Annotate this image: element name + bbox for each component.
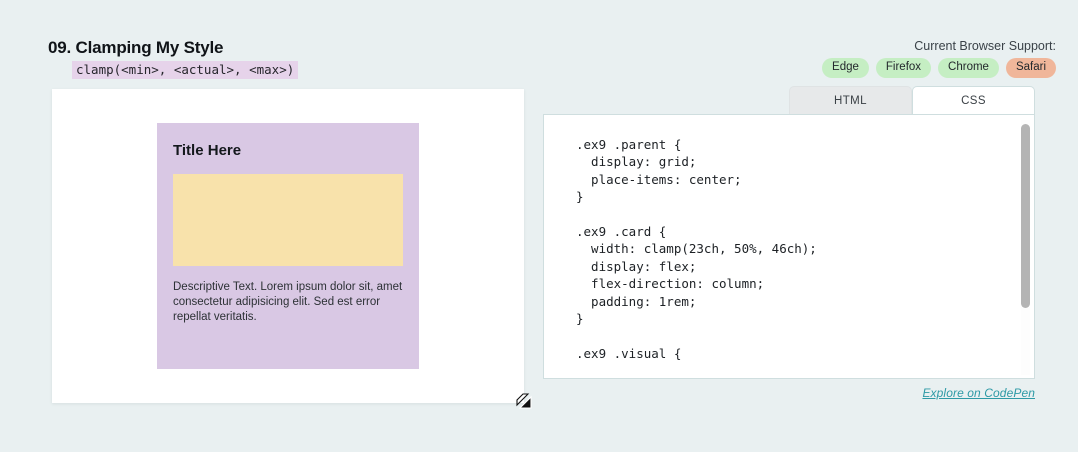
demo-card: Title Here Descriptive Text. Lorem ipsum… — [157, 123, 419, 369]
code-content: .ex9 .parent { display: grid; place-item… — [576, 136, 817, 362]
browser-badge-firefox: Firefox — [876, 58, 931, 78]
code-viewer[interactable]: .ex9 .parent { display: grid; place-item… — [543, 114, 1035, 379]
browser-badge-list: Edge Firefox Chrome Safari — [822, 58, 1056, 78]
tab-css[interactable]: CSS — [912, 86, 1035, 115]
resize-nwse-cursor-icon[interactable] — [515, 392, 533, 410]
demo-preview-panel[interactable]: Title Here Descriptive Text. Lorem ipsum… — [52, 89, 524, 403]
browser-badge-safari: Safari — [1006, 58, 1056, 78]
page-header: 09. Clamping My Style clamp(<min>, <actu… — [0, 0, 1078, 86]
code-tab-bar: HTML CSS — [789, 86, 1035, 115]
code-section: HTML CSS .ex9 .parent { display: grid; p… — [543, 86, 1035, 416]
explore-on-codepen-link[interactable]: Explore on CodePen — [922, 386, 1035, 400]
title-code-chip: clamp(<min>, <actual>, <max>) — [72, 61, 298, 79]
demo-card-title: Title Here — [173, 142, 403, 160]
code-scrollbar-thumb[interactable] — [1021, 124, 1030, 308]
title-block: 09. Clamping My Style clamp(<min>, <actu… — [48, 38, 298, 79]
demo-parent-container: Title Here Descriptive Text. Lorem ipsum… — [52, 89, 524, 403]
browser-badge-edge: Edge — [822, 58, 869, 78]
demo-card-visual — [173, 174, 403, 266]
browser-badge-chrome: Chrome — [938, 58, 999, 78]
page-title: 09. Clamping My Style — [48, 38, 298, 58]
browser-support: Current Browser Support: Edge Firefox Ch… — [822, 38, 1056, 78]
tab-html[interactable]: HTML — [789, 86, 912, 115]
browser-support-label: Current Browser Support: — [822, 38, 1056, 54]
demo-card-text: Descriptive Text. Lorem ipsum dolor sit,… — [173, 280, 403, 325]
